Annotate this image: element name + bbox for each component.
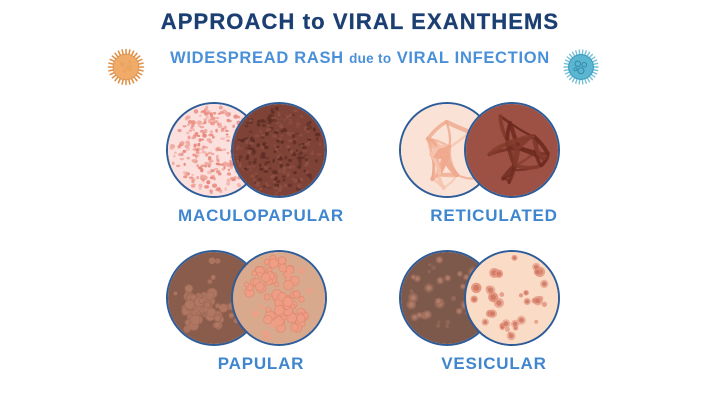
dark-skin-disc bbox=[464, 102, 560, 198]
subtitle-connector: due to bbox=[349, 51, 391, 66]
rash-label-reticulated: RETICULATED bbox=[379, 206, 609, 226]
page-subtitle: WIDESPREAD RASH due to VIRAL INFECTION bbox=[170, 49, 550, 68]
subtitle-tail: VIRAL INFECTION bbox=[397, 49, 550, 67]
skin-pair bbox=[146, 100, 376, 200]
skin-pair bbox=[379, 100, 609, 200]
dark-skin-disc bbox=[231, 102, 327, 198]
page-title: APPROACH to VIRAL EXANTHEMS bbox=[0, 8, 720, 36]
rash-label-vesicular: VESICULAR bbox=[379, 354, 609, 374]
light-skin-disc bbox=[464, 250, 560, 346]
rash-label-maculopapular: MACULOPAPULAR bbox=[146, 206, 376, 226]
illustration-canvas: APPROACH to VIRAL EXANTHEMS WIDESPREAD R… bbox=[0, 0, 720, 404]
rash-card-maculopapular[interactable]: MACULOPAPULAR bbox=[146, 100, 376, 226]
rash-grid: MACULOPAPULAR RETICULATED bbox=[0, 100, 720, 390]
skin-pair bbox=[379, 248, 609, 348]
rash-card-reticulated[interactable]: RETICULATED bbox=[379, 100, 609, 226]
virus-particle-teal-icon bbox=[558, 44, 604, 90]
skin-pair bbox=[146, 248, 376, 348]
rash-card-vesicular[interactable]: VESICULAR bbox=[379, 248, 609, 374]
subtitle-lead: WIDESPREAD RASH bbox=[170, 49, 344, 67]
rash-card-papular[interactable]: PAPULAR bbox=[146, 248, 376, 374]
virus-particle-orange-icon bbox=[103, 44, 149, 90]
light-skin-disc bbox=[231, 250, 327, 346]
rash-label-papular: PAPULAR bbox=[146, 354, 376, 374]
